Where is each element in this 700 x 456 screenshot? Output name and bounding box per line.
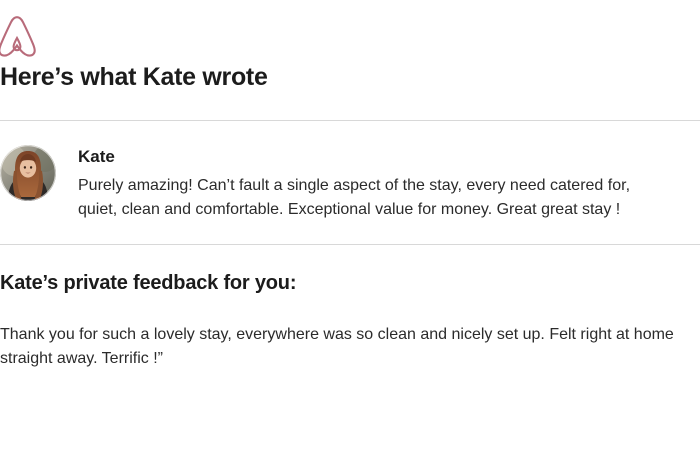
private-feedback-text: Thank you for such a lovely stay, everyw…	[0, 323, 684, 371]
review-item: Kate Purely amazing! Can’t fault a singl…	[0, 121, 700, 244]
reviewer-avatar[interactable]	[0, 145, 56, 201]
airbnb-belo-icon[interactable]	[0, 14, 700, 58]
review-text: Purely amazing! Can’t fault a single asp…	[78, 174, 658, 222]
private-feedback-heading: Kate’s private feedback for you:	[0, 271, 684, 295]
private-feedback-section: Kate’s private feedback for you: Thank y…	[0, 245, 700, 371]
reviewer-name: Kate	[78, 147, 684, 167]
page-title: Here’s what Kate wrote	[0, 62, 700, 92]
brand-header	[0, 0, 700, 62]
review-content: Kate Purely amazing! Can’t fault a singl…	[78, 145, 684, 222]
review-page: Here’s what Kate wrote	[0, 0, 700, 456]
